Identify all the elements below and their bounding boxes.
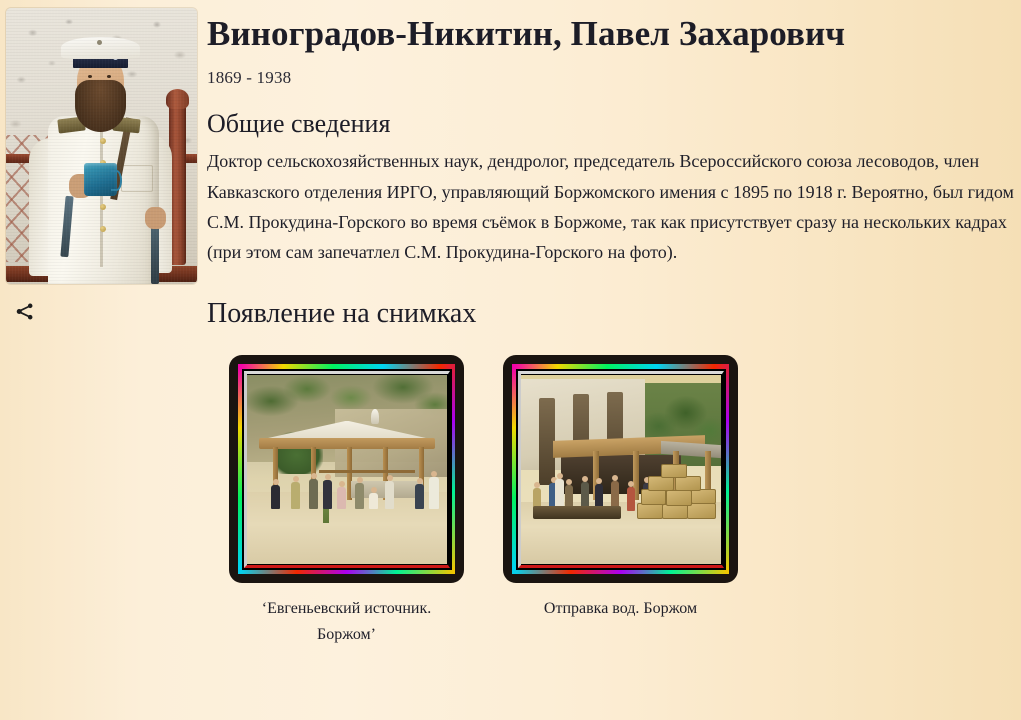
- figure-chest-pocket: [121, 165, 154, 192]
- figure-object-right: [151, 223, 159, 284]
- figure-hand-right: [145, 207, 166, 229]
- photo2-crate: [648, 476, 674, 491]
- photo2-crate: [662, 504, 688, 519]
- photo2-crate: [675, 476, 701, 492]
- appearances-heading: Появление на снимках: [207, 297, 1019, 331]
- photo-caption: Отправка вод. Боржом: [503, 596, 738, 622]
- photo1-person: [291, 482, 300, 510]
- figure-button: [100, 204, 106, 210]
- photo1-people-group: [247, 460, 447, 509]
- photo2-crate: [691, 489, 715, 504]
- page-title: Виноградов-Никитин, Павел Захарович: [207, 0, 1019, 54]
- photo1-person: [355, 483, 364, 510]
- photo1-roof-finial: [371, 409, 379, 424]
- figure-button: [100, 138, 106, 144]
- photo1-person: [415, 484, 424, 510]
- photo-thumbnail-inner: [238, 364, 455, 574]
- photo-thumbnail-inner: [512, 364, 729, 574]
- life-dates: 1869 - 1938: [207, 68, 1019, 88]
- photo2-loading-cart: [533, 506, 621, 519]
- photo1-person: [309, 479, 318, 509]
- portrait-figure: [6, 8, 197, 284]
- photo-caption: ‘Евгеньевский источник. Боржом’: [229, 596, 464, 648]
- photo2-crate: [641, 489, 666, 504]
- portrait-column: [6, 8, 198, 324]
- figure-cap-crown: [61, 37, 139, 59]
- photo-gallery: ‘Евгеньевский источник. Боржом’: [207, 355, 1019, 648]
- photo1-person: [385, 481, 394, 509]
- gallery-item: ‘Евгеньевский источник. Боржом’: [229, 355, 464, 648]
- photo-image-water-shipping: [521, 375, 721, 564]
- general-info-heading: Общие сведения: [207, 108, 1019, 139]
- share-icon[interactable]: [14, 301, 35, 322]
- figure-beard: [75, 80, 127, 132]
- photo-thumbnail-water-shipping[interactable]: [503, 355, 738, 583]
- photo1-person: [271, 485, 280, 510]
- share-row: [6, 298, 198, 324]
- photo2-person: [627, 487, 635, 511]
- photo-thumbnail-pavilion[interactable]: [229, 355, 464, 583]
- photo2-crate-stack: [637, 466, 717, 519]
- person-page: Виноградов-Никитин, Павел Захарович 1869…: [0, 0, 1021, 720]
- content-column: Виноградов-Никитин, Павел Захарович 1869…: [207, 0, 1019, 648]
- photo-image-pavilion: [247, 375, 447, 564]
- portrait-photo[interactable]: [6, 8, 197, 284]
- photo2-crate: [666, 490, 692, 506]
- photo2-crate: [661, 464, 687, 478]
- figure-button: [100, 226, 106, 232]
- photo1-person: [337, 487, 346, 510]
- figure-blue-mug: [84, 163, 116, 196]
- photo1-person: [369, 493, 378, 510]
- portrait-canvas: [6, 8, 197, 284]
- figure-jacket-placket: [100, 124, 103, 268]
- photo2-crate: [637, 503, 663, 519]
- general-info-body: Доктор сельскохозяйственных наук, дендро…: [207, 146, 1019, 266]
- gallery-item: Отправка вод. Боржом: [503, 355, 738, 622]
- photo1-person: [429, 477, 439, 509]
- photo1-person: [323, 480, 332, 509]
